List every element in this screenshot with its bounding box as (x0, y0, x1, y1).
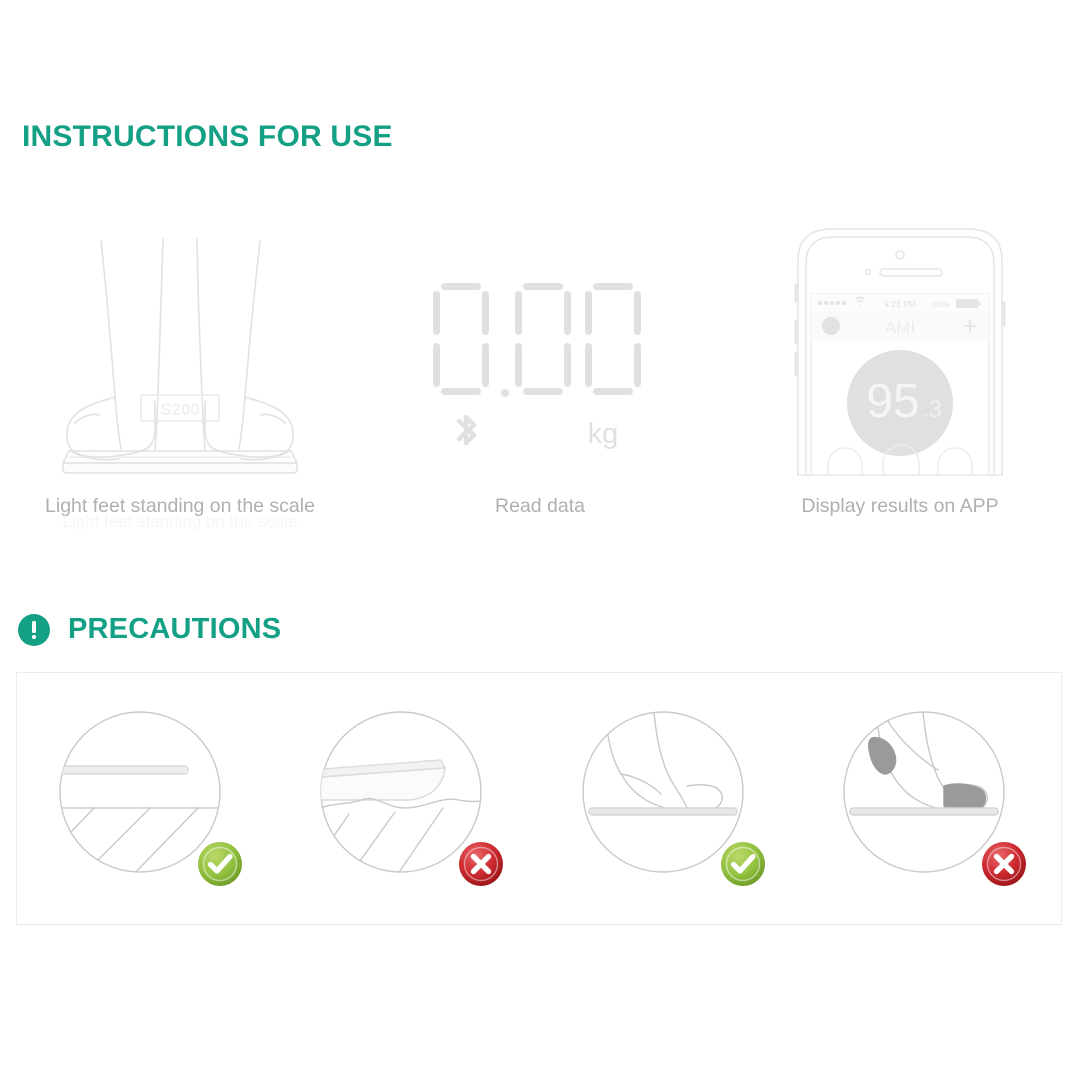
feet-on-scale-illustration: S200 (0, 220, 360, 475)
phone-avatar (822, 317, 840, 335)
instruction-step-stand-on-scale: S200 Light feet standing on the scale Li… (0, 220, 360, 540)
instruction-step-read-data: kg Read data (360, 220, 720, 540)
scale-on-hard-flat-floor-illustration (52, 704, 242, 894)
instructions-title: INSTRUCTIONS FOR USE (22, 120, 393, 154)
precaution-bare-feet (539, 672, 801, 925)
phone-weight-whole: 95 (866, 375, 919, 428)
step-caption: Display results on APP (801, 495, 998, 518)
step-ghost-caption: Light feet standing on the scale (62, 512, 297, 532)
smartphone-app-illustration: 9:23 PM 100% AMI + 95 .3 (720, 220, 1080, 475)
phone-add-button: + (963, 313, 977, 340)
precaution-soft-uneven-floor (278, 672, 540, 925)
precaution-hard-flat-floor (16, 672, 278, 925)
instruction-step-display-on-app: 9:23 PM 100% AMI + 95 .3 Display results… (720, 220, 1080, 540)
step-caption: Read data (495, 495, 585, 518)
scale-on-soft-uneven-floor-illustration (313, 704, 503, 894)
scale-brand-text: S200 (160, 400, 200, 419)
phone-weight-decimal: .3 (922, 396, 942, 423)
red-cross-badge (980, 840, 1028, 888)
precaution-socks (801, 672, 1063, 925)
bluetooth-icon (459, 417, 474, 443)
sock-foot-on-scale-illustration (836, 704, 1026, 894)
exclamation-circle-icon (18, 614, 50, 646)
red-cross-badge (457, 840, 505, 888)
display-unit-label: kg (588, 418, 619, 450)
bare-foot-on-scale-illustration (575, 704, 765, 894)
instruction-steps-row: S200 Light feet standing on the scale Li… (0, 220, 1080, 540)
precautions-items (16, 672, 1062, 925)
phone-status-time: 9:23 PM (884, 299, 916, 309)
green-check-badge (196, 840, 244, 888)
phone-status-battery: 100% (931, 300, 951, 309)
phone-app-title: AMI (885, 318, 915, 337)
precautions-title: PRECAUTIONS (68, 613, 281, 646)
precautions-heading: PRECAUTIONS (18, 613, 281, 646)
seven-segment-display-illustration: kg (360, 220, 720, 475)
green-check-badge (719, 840, 767, 888)
